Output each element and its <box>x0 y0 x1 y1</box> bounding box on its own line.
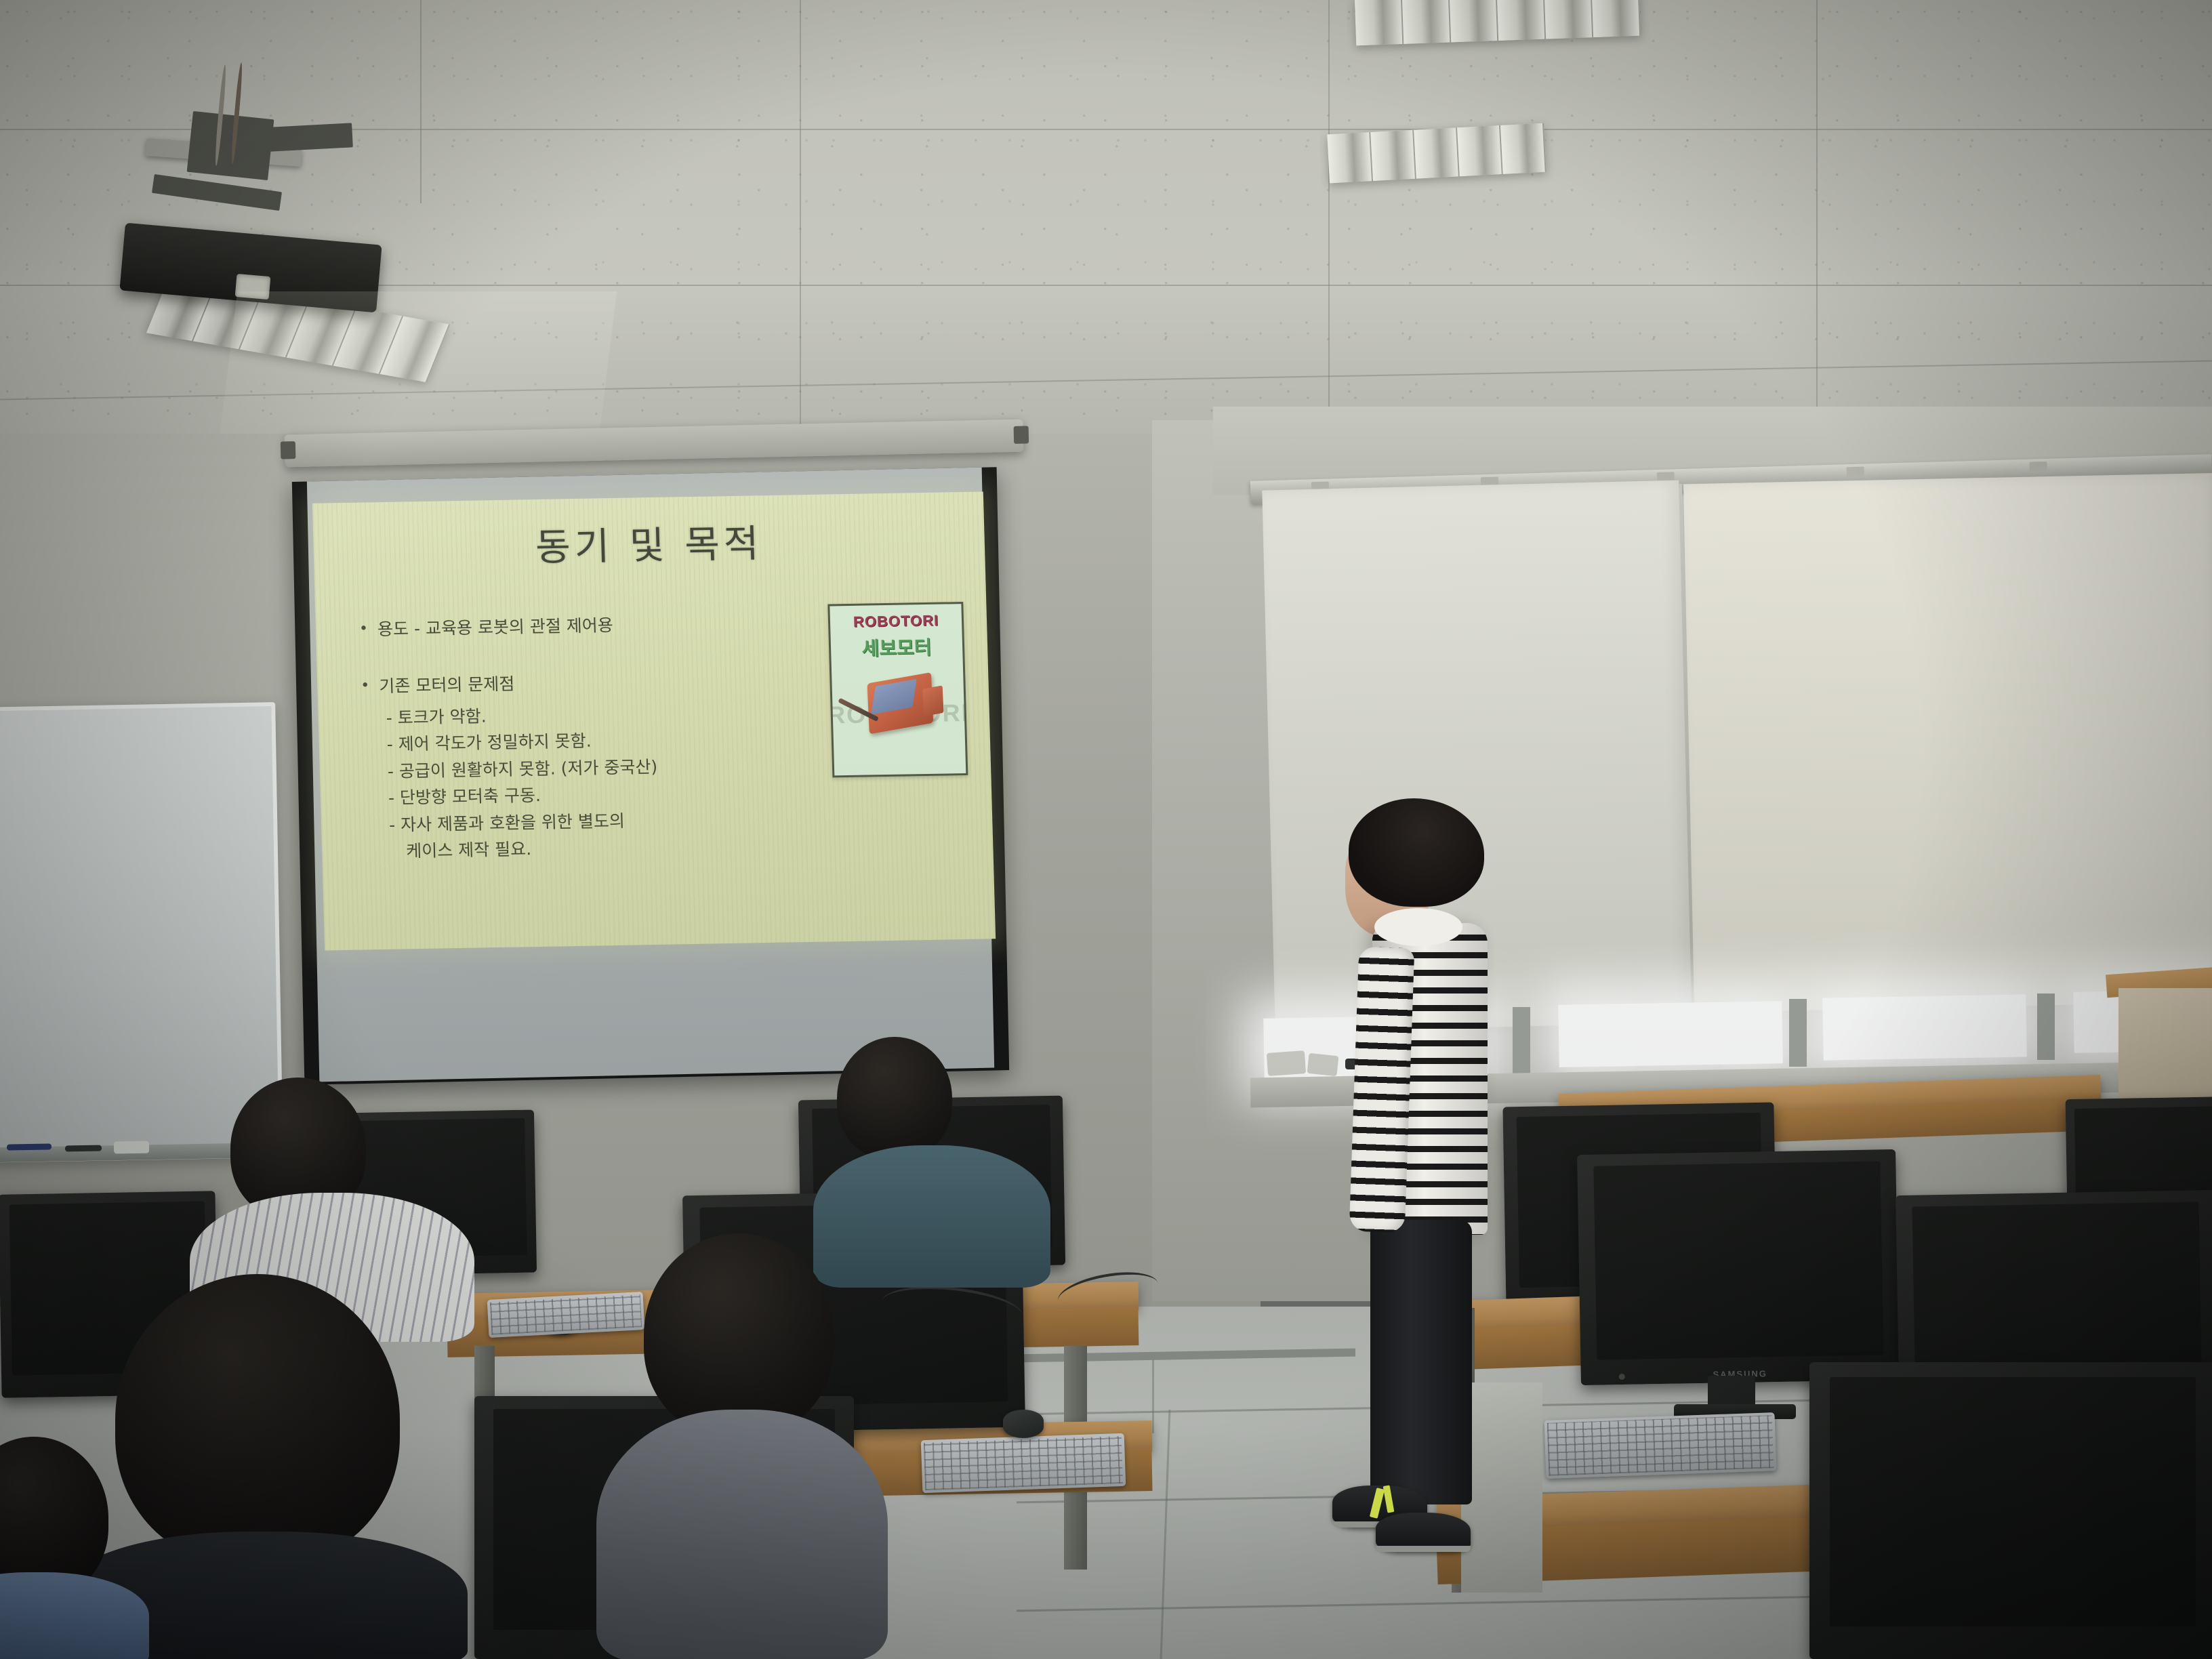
keyboard[interactable] <box>921 1433 1126 1493</box>
mouse[interactable] <box>1003 1410 1044 1438</box>
whiteboard-marker <box>65 1145 102 1152</box>
presenter-head <box>1349 798 1484 907</box>
projector-lens <box>235 274 271 300</box>
window-blind-right[interactable] <box>1683 473 2212 1012</box>
screen-housing-endcap <box>1014 426 1029 443</box>
product-korean-label: 세보모터 <box>831 632 963 661</box>
ceiling-tile-line <box>1816 0 1818 407</box>
student-head <box>837 1037 952 1159</box>
bullet-text: 기존 모터의 문제점 <box>379 672 515 699</box>
projector-mount-arm <box>257 123 353 152</box>
whiteboard-marker <box>7 1143 52 1150</box>
presenter-legs <box>1370 1220 1472 1504</box>
servo-top-plate <box>871 679 916 715</box>
presenter-shoe <box>1376 1513 1471 1552</box>
projected-slide: 동기 및 목적 • 용도 - 교육용 로봇의 관절 제어용 • 기존 모터의 문… <box>312 491 996 950</box>
window-mullion <box>1789 999 1807 1067</box>
keyboard-keys <box>490 1294 642 1335</box>
slide-bullet: • 용도 - 교육용 로봇의 관절 제어용 <box>359 610 794 642</box>
presenter-collar <box>1374 908 1462 946</box>
student-head <box>644 1233 834 1437</box>
sill-item <box>1307 1053 1339 1076</box>
student-shoulders <box>813 1145 1050 1288</box>
monitor: SAMSUNG <box>1577 1149 1900 1385</box>
desk-riser <box>1461 1382 1542 1593</box>
bullet-marker: • <box>361 675 370 697</box>
bullet-marker: • <box>359 617 369 640</box>
window-mullion <box>1513 1007 1530 1075</box>
keyboard-keys <box>924 1436 1123 1490</box>
ceiling-tile-line <box>1328 0 1330 420</box>
product-brand-label: ROBOTORI <box>830 611 962 631</box>
student-head <box>115 1274 400 1565</box>
window-glare <box>1558 1001 1783 1067</box>
shoe-sole <box>1376 1546 1471 1552</box>
window-glare <box>1822 994 2027 1060</box>
whiteboard <box>0 702 283 1163</box>
presenter-arm <box>1349 947 1415 1233</box>
keyboard[interactable] <box>1544 1412 1777 1479</box>
blind-clip <box>2029 462 2047 472</box>
floor-tile-line <box>1152 1352 1154 1433</box>
whiteboard-eraser <box>114 1141 149 1154</box>
servo-mount-ear <box>922 685 943 716</box>
blind-clip <box>1847 467 1864 477</box>
ceiling-tile-line <box>800 0 801 434</box>
monitor-screen <box>1593 1161 1883 1359</box>
ceiling <box>0 0 2212 474</box>
slide-title: 동기 및 목적 <box>313 509 985 575</box>
sill-item <box>1267 1050 1306 1076</box>
student-shoulders <box>596 1410 888 1659</box>
screen-housing-endcap <box>281 441 296 459</box>
slide-product-image: ROBOTORI 세보모터 ROBOTORI <box>827 602 968 777</box>
window-mullion <box>2037 994 2055 1060</box>
classroom-photo-scene: 동기 및 목적 • 용도 - 교육용 로봇의 관절 제어용 • 기존 모터의 문… <box>0 0 2212 1659</box>
ceiling-tile-line <box>420 0 422 203</box>
monitor-screen <box>1830 1377 2196 1626</box>
slide-body: • 용도 - 교육용 로봇의 관절 제어용 • 기존 모터의 문제점 - 토크가… <box>359 610 800 865</box>
bullet-text: 용도 - 교육용 로봇의 관절 제어용 <box>377 613 614 642</box>
keyboard-keys <box>1547 1415 1774 1476</box>
monitor <box>1809 1362 2212 1659</box>
